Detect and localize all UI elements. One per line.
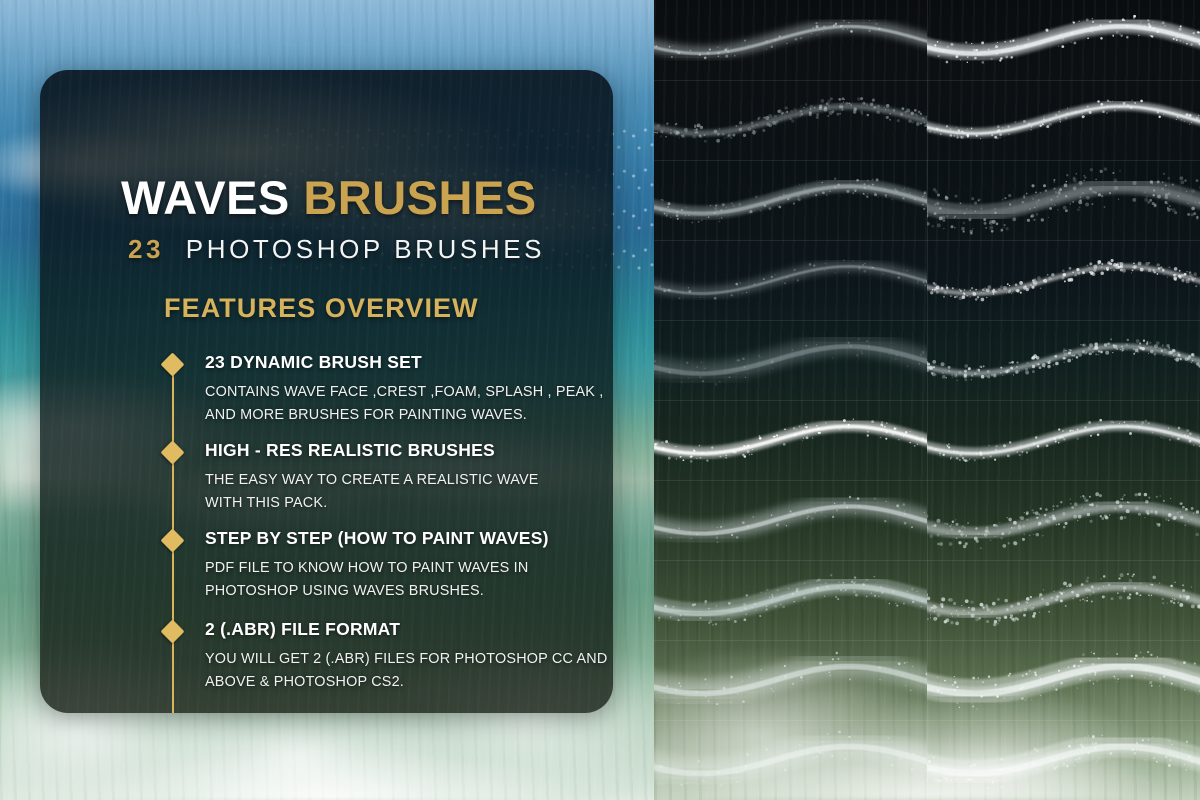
brush-preview-cloudy-mist[interactable] (654, 320, 927, 400)
brush-preview-rough-foam-ridge[interactable] (927, 400, 1200, 480)
brush-preview-speckle-burst[interactable] (927, 480, 1200, 560)
product-title: WAVES BRUSHES (121, 174, 537, 221)
brush-preview-bold-whitewater-crest[interactable] (654, 400, 927, 480)
feature-description-line: YOU WILL GET 2 (.ABR) FILES FOR PHOTOSHO… (205, 648, 608, 671)
subtitle-count: 23 (128, 234, 164, 264)
title-brushes: BRUSHES (303, 171, 536, 224)
brush-preview-fine-bubble-chain[interactable] (927, 320, 1200, 400)
title-waves: WAVES (121, 171, 290, 224)
feature-description-line: ABOVE & PHOTOSHOP CS2. (205, 671, 608, 694)
brush-preview-smooth-fog-band[interactable] (654, 240, 927, 320)
brush-preview-layered-wave-foam[interactable] (654, 560, 927, 640)
feature-item: STEP BY STEP (HOW TO PAINT WAVES)PDF FIL… (205, 530, 549, 603)
brush-preview-broad-scatter-churn[interactable] (927, 160, 1200, 240)
features-overview-heading: FEATURES OVERVIEW (164, 295, 479, 322)
feature-title: 2 (.ABR) FILE FORMAT (205, 621, 608, 639)
brush-preview-feathered-splash[interactable] (654, 480, 927, 560)
brush-preview-dense-bright-foam[interactable] (927, 0, 1200, 80)
feature-item: 2 (.ABR) FILE FORMATYOU WILL GET 2 (.ABR… (205, 621, 608, 694)
brush-preview-wash-surface-foam[interactable] (654, 720, 927, 800)
feature-description-line: PHOTOSHOP USING WAVES BRUSHES. (205, 580, 549, 603)
feature-title: 23 DYNAMIC BRUSH SET (205, 354, 604, 372)
feature-item: HIGH - RES REALISTIC BRUSHESTHE EASY WAY… (205, 442, 539, 515)
feature-title: HIGH - RES REALISTIC BRUSHES (205, 442, 539, 460)
brush-preview-crisp-crest-edge[interactable] (927, 80, 1200, 160)
brush-preview-soft-foam-streak[interactable] (654, 0, 927, 80)
poster-canvas: WAVES BRUSHES 23 PHOTOSHOP BRUSHES FEATU… (0, 0, 1200, 800)
feature-bullet-diamond (160, 352, 184, 376)
feature-title: STEP BY STEP (HOW TO PAINT WAVES) (205, 530, 549, 548)
brush-preview-wispy-spray[interactable] (654, 80, 927, 160)
brush-preview-shoreline-froth[interactable] (927, 720, 1200, 800)
subtitle-text: PHOTOSHOP BRUSHES (186, 234, 545, 264)
brush-preview-soft-whitecap[interactable] (654, 640, 927, 720)
product-subtitle: 23 PHOTOSHOP BRUSHES (128, 236, 545, 262)
feature-description-line: THE EASY WAY TO CREATE A REALISTIC WAVE (205, 469, 539, 492)
brush-preview-granular-crest[interactable] (927, 560, 1200, 640)
brush-preview-panel (654, 0, 1200, 800)
feature-bullet-diamond (160, 619, 184, 643)
brush-preview-sparse-droplets[interactable] (927, 240, 1200, 320)
feature-description-line: WITH THIS PACK. (205, 492, 539, 515)
feature-bullet-diamond (160, 440, 184, 464)
features-card: WAVES BRUSHES 23 PHOTOSHOP BRUSHES FEATU… (40, 70, 613, 713)
brush-preview-heavy-breaking-foam[interactable] (927, 640, 1200, 720)
feature-bullet-diamond (160, 528, 184, 552)
feature-description-line: CONTAINS WAVE FACE ,CREST ,FOAM, SPLASH … (205, 381, 604, 404)
brush-preview-textured-churn[interactable] (654, 160, 927, 240)
feature-description-line: PDF FILE TO KNOW HOW TO PAINT WAVES IN (205, 557, 549, 580)
feature-item: 23 DYNAMIC BRUSH SETCONTAINS WAVE FACE ,… (205, 354, 604, 427)
feature-description-line: AND MORE BRUSHES FOR PAINTING WAVES. (205, 404, 604, 427)
